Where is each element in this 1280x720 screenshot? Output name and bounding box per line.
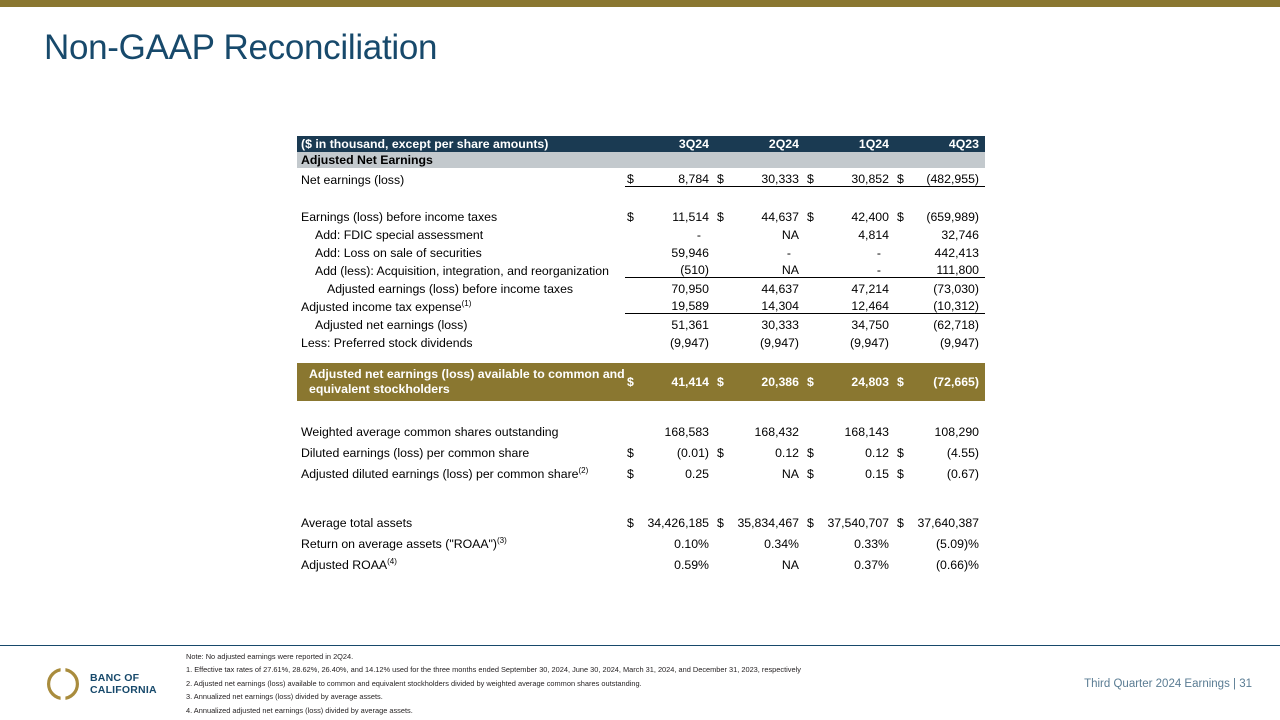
row-label-fdic: Add: FDIC special assessment [297,223,625,241]
value-net-earnings-3q24: 8,784 [641,168,715,186]
spacer-cell [625,136,641,152]
value-avg-assets-4q23: 37,640,387 [911,511,985,529]
row-label-adj-roaa-text: Adjusted ROAA [301,558,387,572]
spacer-cell [895,277,911,295]
spacer-cell [805,331,821,349]
table-row: Earnings (loss) before income taxes $ 11… [297,205,985,223]
table-row: Weighted average common shares outstandi… [297,420,985,438]
value-acquisition-1q24: - [821,259,895,277]
column-header-3q24: 3Q24 [641,136,715,152]
value-acquisition-2q24: NA [731,259,805,277]
currency-symbol: $ [805,168,821,186]
logo-wordmark: BANC OF CALIFORNIA [90,672,157,697]
spacer-cell [625,313,641,331]
currency-symbol: $ [715,441,731,459]
currency-symbol: $ [715,363,731,401]
footnote-3: 3. Annualized net earnings (loss) divide… [186,690,1046,703]
row-label-roaa: Return on average assets ("ROAA")(3) [297,532,625,550]
spacer-cell [895,420,911,438]
footnote-2: 2. Adjusted net earnings (loss) availabl… [186,677,1046,690]
logo-gap-bottom [61,690,66,701]
logo-line-1: BANC OF [90,672,157,684]
section-band-label: Adjusted Net Earnings [297,152,625,168]
value-adj-roaa-3q24: 0.59% [641,553,715,571]
value-avg-assets-2q24: 35,834,467 [731,511,805,529]
section-band-fill [625,152,985,168]
spacer-cell [715,259,731,277]
spacer-cell [715,462,731,480]
spacer-cell [805,259,821,277]
spacer-cell [805,532,821,550]
table-header-row: ($ in thousand, except per share amounts… [297,136,985,152]
value-adj-net-1q24: 34,750 [821,313,895,331]
currency-symbol: $ [805,511,821,529]
value-avg-assets-3q24: 34,426,185 [641,511,715,529]
currency-symbol: $ [895,462,911,480]
value-diluted-eps-4q23: (4.55) [911,441,985,459]
row-label-adj-tax-text: Adjusted income tax expense [301,300,462,314]
spacer-cell [625,553,641,571]
value-adj-tax-3q24: 19,589 [641,295,715,313]
banc-of-california-logo: BANC OF CALIFORNIA [45,666,157,702]
logo-gap-top [61,667,66,678]
value-diluted-eps-1q24: 0.12 [821,441,895,459]
spacer-cell [895,313,911,331]
currency-symbol: $ [895,363,911,401]
value-loss-securities-3q24: 59,946 [641,241,715,259]
value-wavg-shares-3q24: 168,583 [641,420,715,438]
spacer-cell [715,295,731,313]
spacer-cell [625,277,641,295]
top-accent-bar [0,0,1280,7]
footnote-note: Note: No adjusted earnings were reported… [186,650,1046,663]
currency-symbol: $ [625,168,641,186]
value-adj-net-2q24: 30,333 [731,313,805,331]
value-loss-securities-4q23: 442,413 [911,241,985,259]
currency-symbol: $ [895,205,911,223]
value-wavg-shares-4q23: 108,290 [911,420,985,438]
value-fdic-1q24: 4,814 [821,223,895,241]
footnotes-block: Note: No adjusted earnings were reported… [186,650,1046,717]
table-row: Add: FDIC special assessment - NA 4,814 … [297,223,985,241]
value-net-earnings-2q24: 30,333 [731,168,805,186]
spacer-cell [715,136,731,152]
footnote-marker: (3) [497,536,507,545]
value-adj-diluted-eps-3q24: 0.25 [641,462,715,480]
spacer-cell [715,277,731,295]
table-row: Add: Loss on sale of securities 59,946 -… [297,241,985,259]
row-spacer [297,401,985,420]
table-row: Add (less): Acquisition, integration, an… [297,259,985,277]
currency-symbol: $ [715,205,731,223]
footnote-4: 4. Annualized adjusted net earnings (los… [186,704,1046,717]
value-pref-div-3q24: (9,947) [641,331,715,349]
value-loss-securities-2q24: - [731,241,805,259]
value-acquisition-3q24: (510) [641,259,715,277]
footnote-marker: (2) [579,466,589,475]
row-label-adj-diluted-eps-text: Adjusted diluted earnings (loss) per com… [301,467,579,481]
spacer-cell [805,313,821,331]
table-row: Net earnings (loss) $ 8,784 $ 30,333 $ 3… [297,168,985,186]
table-row: Adjusted net earnings (loss) 51,361 30,3… [297,313,985,331]
spacer-cell [895,241,911,259]
value-adj-roaa-2q24: NA [731,553,805,571]
currency-symbol: $ [625,363,641,401]
row-label-adj-diluted-eps: Adjusted diluted earnings (loss) per com… [297,462,625,480]
page-title: Non-GAAP Reconciliation [44,28,437,68]
spacer-cell [895,259,911,277]
value-roaa-1q24: 0.33% [821,532,895,550]
currency-symbol: $ [625,205,641,223]
value-adj-roaa-1q24: 0.37% [821,553,895,571]
row-label-loss-securities: Add: Loss on sale of securities [297,241,625,259]
value-adj-ebt-3q24: 70,950 [641,277,715,295]
table-header-label: ($ in thousand, except per share amounts… [297,136,625,152]
value-adj-diluted-eps-1q24: 0.15 [821,462,895,480]
row-label-adj-ebt: Adjusted earnings (loss) before income t… [297,277,625,295]
value-wavg-shares-2q24: 168,432 [731,420,805,438]
spacer-cell [715,553,731,571]
value-fdic-4q23: 32,746 [911,223,985,241]
value-adj-avail-2q24: 20,386 [731,363,805,401]
row-spacer [297,186,985,205]
table-row: Diluted earnings (loss) per common share… [297,441,985,459]
spacer-cell [625,532,641,550]
table-row: Less: Preferred stock dividends (9,947) … [297,331,985,349]
spacer-cell [805,223,821,241]
value-adj-diluted-eps-2q24: NA [731,462,805,480]
section-band-adjusted-net-earnings: Adjusted Net Earnings [297,152,985,168]
value-net-earnings-1q24: 30,852 [821,168,895,186]
spacer-cell [805,553,821,571]
table-row: Adjusted ROAA(4) 0.59% NA 0.37% (0.66)% [297,553,985,571]
value-pref-div-1q24: (9,947) [821,331,895,349]
currency-symbol: $ [715,511,731,529]
spacer-cell [625,259,641,277]
spacer-cell [715,223,731,241]
table-row: Return on average assets ("ROAA")(3) 0.1… [297,532,985,550]
footnote-marker: (1) [462,299,472,308]
currency-symbol: $ [625,511,641,529]
value-adj-net-3q24: 51,361 [641,313,715,331]
value-adj-ebt-2q24: 44,637 [731,277,805,295]
footnote-marker: (4) [387,557,397,566]
value-adj-roaa-4q23: (0.66)% [911,553,985,571]
value-pref-div-2q24: (9,947) [731,331,805,349]
value-adj-ebt-4q23: (73,030) [911,277,985,295]
row-label-adj-roaa: Adjusted ROAA(4) [297,553,625,571]
value-diluted-eps-2q24: 0.12 [731,441,805,459]
table-row: Adjusted earnings (loss) before income t… [297,277,985,295]
spacer-cell [895,295,911,313]
footer-divider [0,645,1280,646]
value-net-earnings-4q23: (482,955) [911,168,985,186]
value-pref-div-4q23: (9,947) [911,331,985,349]
value-diluted-eps-3q24: (0.01) [641,441,715,459]
currency-symbol: $ [805,462,821,480]
spacer-cell [895,136,911,152]
column-header-4q23: 4Q23 [911,136,985,152]
currency-symbol: $ [895,168,911,186]
row-label-adj-avail: Adjusted net earnings (loss) available t… [297,363,625,401]
spacer-cell [805,295,821,313]
row-label-acquisition: Add (less): Acquisition, integration, an… [297,259,625,277]
value-loss-securities-1q24: - [821,241,895,259]
currency-symbol: $ [625,462,641,480]
value-ebt-4q23: (659,989) [911,205,985,223]
spacer-cell [895,223,911,241]
row-label-adj-net: Adjusted net earnings (loss) [297,313,625,331]
currency-symbol: $ [805,441,821,459]
spacer-cell [625,420,641,438]
spacer-cell [625,223,641,241]
value-ebt-2q24: 44,637 [731,205,805,223]
logo-line-2: CALIFORNIA [90,684,157,696]
value-adj-tax-2q24: 14,304 [731,295,805,313]
spacer-cell [895,532,911,550]
value-adj-tax-1q24: 12,464 [821,295,895,313]
value-adj-avail-1q24: 24,803 [821,363,895,401]
currency-symbol: $ [715,168,731,186]
currency-symbol: $ [805,363,821,401]
value-fdic-3q24: - [641,223,715,241]
table-row: Average total assets $ 34,426,185 $ 35,8… [297,511,985,529]
spacer-cell [625,295,641,313]
slide-footer-meta: Third Quarter 2024 Earnings | 31 [1084,678,1252,690]
value-roaa-2q24: 0.34% [731,532,805,550]
row-label-ebt: Earnings (loss) before income taxes [297,205,625,223]
value-adj-ebt-1q24: 47,214 [821,277,895,295]
value-adj-avail-4q23: (72,665) [911,363,985,401]
broken-ring-logo-icon [45,666,81,702]
non-gaap-reconciliation-table: ($ in thousand, except per share amounts… [297,136,985,571]
column-header-1q24: 1Q24 [821,136,895,152]
footnote-1: 1. Effective tax rates of 27.61%, 28.62%… [186,663,1046,676]
spacer-cell [805,241,821,259]
value-avg-assets-1q24: 37,540,707 [821,511,895,529]
spacer-cell [715,331,731,349]
value-adj-avail-3q24: 41,414 [641,363,715,401]
value-acquisition-4q23: 111,800 [911,259,985,277]
row-label-adj-tax: Adjusted income tax expense(1) [297,295,625,313]
row-label-wavg-shares: Weighted average common shares outstandi… [297,420,625,438]
currency-symbol: $ [805,205,821,223]
spacer-cell [895,331,911,349]
row-spacer [297,349,985,363]
row-label-net-earnings: Net earnings (loss) [297,168,625,186]
spacer-cell [805,277,821,295]
spacer-cell [805,420,821,438]
row-label-avg-assets: Average total assets [297,511,625,529]
value-roaa-3q24: 0.10% [641,532,715,550]
row-label-roaa-text: Return on average assets ("ROAA") [301,537,497,551]
row-spacer [297,499,985,511]
currency-symbol: $ [625,441,641,459]
spacer-cell [805,136,821,152]
spacer-cell [715,241,731,259]
row-label-pref-div: Less: Preferred stock dividends [297,331,625,349]
value-adj-diluted-eps-4q23: (0.67) [911,462,985,480]
spacer-cell [715,420,731,438]
value-ebt-1q24: 42,400 [821,205,895,223]
spacer-cell [625,241,641,259]
table-row: Adjusted diluted earnings (loss) per com… [297,462,985,480]
spacer-cell [625,331,641,349]
value-fdic-2q24: NA [731,223,805,241]
currency-symbol: $ [895,511,911,529]
column-header-2q24: 2Q24 [731,136,805,152]
row-label-diluted-eps: Diluted earnings (loss) per common share [297,441,625,459]
value-adj-tax-4q23: (10,312) [911,295,985,313]
value-roaa-4q23: (5.09)% [911,532,985,550]
value-ebt-3q24: 11,514 [641,205,715,223]
value-adj-net-4q23: (62,718) [911,313,985,331]
highlight-row-adjusted-net-earnings-available: Adjusted net earnings (loss) available t… [297,363,985,401]
table-row: Adjusted income tax expense(1) 19,589 14… [297,295,985,313]
row-spacer [297,480,985,499]
spacer-cell [895,553,911,571]
spacer-cell [715,313,731,331]
spacer-cell [715,532,731,550]
value-wavg-shares-1q24: 168,143 [821,420,895,438]
currency-symbol: $ [895,441,911,459]
